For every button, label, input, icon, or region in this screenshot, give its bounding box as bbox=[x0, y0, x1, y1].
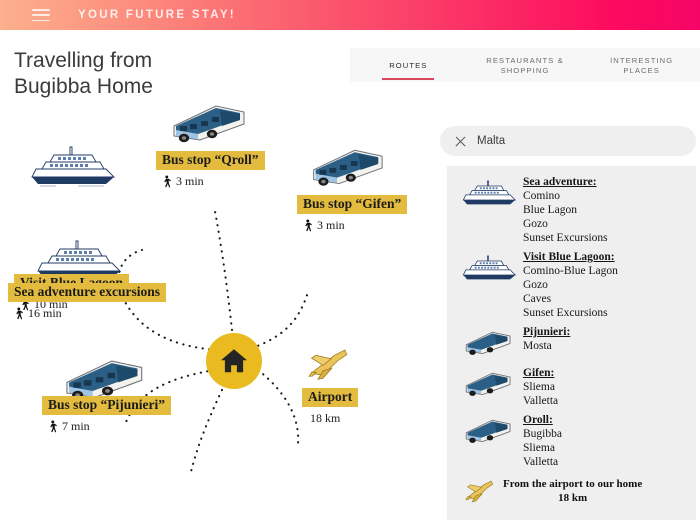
route-group[interactable]: Pijunieri: Mosta bbox=[447, 324, 696, 361]
route-stop: Mosta bbox=[523, 339, 570, 353]
route-stop: Gozo bbox=[523, 278, 618, 292]
route-stop: Valletta bbox=[523, 394, 558, 408]
tab-bar: ROUTES RESTAURANTS & SHOPPING INTERESTIN… bbox=[350, 48, 700, 82]
airport-note-text: From the airport to our home 18 km bbox=[503, 477, 642, 505]
map-node-airport[interactable]: Airport 18 km bbox=[302, 388, 358, 426]
route-heading: Oroll: bbox=[523, 413, 562, 427]
routes-side-pane: ROUTES RESTAURANTS & SHOPPING INTERESTIN… bbox=[344, 30, 700, 500]
close-icon[interactable] bbox=[454, 135, 467, 148]
route-heading: Pijunieri: bbox=[523, 325, 570, 339]
walking-icon bbox=[14, 307, 23, 321]
tab-restaurants-shopping[interactable]: RESTAURANTS & SHOPPING bbox=[467, 54, 584, 76]
location-search-field[interactable]: Malta bbox=[440, 126, 696, 156]
node-duration: 3 min bbox=[297, 218, 407, 233]
route-details: Gifen: Sliema Valletta bbox=[523, 365, 558, 408]
hamburger-bar bbox=[32, 9, 50, 11]
map-node-bus-stop-gifen[interactable]: Bus stop “Gifen” 3 min bbox=[297, 195, 407, 233]
app-header: YOUR FUTURE STAY! bbox=[0, 0, 700, 30]
route-group[interactable]: Visit Blue Lagoon: Comino-Blue Lagon Goz… bbox=[447, 249, 696, 320]
ferry-illustration bbox=[22, 142, 120, 195]
route-heading: Gifen: bbox=[523, 366, 558, 380]
node-distance: 18 km bbox=[302, 411, 358, 426]
node-distance-text: 18 km bbox=[310, 411, 340, 426]
home-hub-marker[interactable] bbox=[206, 333, 262, 389]
route-details: Oroll: Bugibba Sliema Valletta bbox=[523, 412, 562, 469]
route-stop: Sliema bbox=[523, 380, 558, 394]
node-label: Bus stop “Qroll” bbox=[156, 151, 265, 170]
route-stop: Caves bbox=[523, 292, 618, 306]
route-stop: Sunset Excursions bbox=[523, 231, 608, 245]
home-icon bbox=[219, 346, 249, 376]
walking-icon bbox=[303, 219, 312, 233]
node-label: Bus stop “Gifen” bbox=[297, 195, 407, 214]
route-details: Pijunieri: Mosta bbox=[523, 324, 570, 353]
node-duration: 3 min bbox=[156, 174, 265, 189]
airport-note-line2: 18 km bbox=[503, 491, 642, 505]
node-duration: 7 min bbox=[42, 419, 171, 434]
map-node-bus-stop-qroll[interactable]: Bus stop “Qroll” 3 min bbox=[156, 151, 265, 189]
airport-distance-note: From the airport to our home 18 km bbox=[447, 477, 696, 505]
route-stop: Comino bbox=[523, 189, 608, 203]
route-group[interactable]: Sea adventure: Comino Blue Lagon Gozo Su… bbox=[447, 174, 696, 245]
route-stop: Blue Lagon bbox=[523, 203, 608, 217]
map-node-bus-stop-pijunieri[interactable]: Bus stop “Pijunieri” 7 min bbox=[42, 396, 171, 434]
node-label: Bus stop “Pijunieri” bbox=[42, 396, 171, 415]
bus-illustration bbox=[300, 140, 386, 193]
route-stop: Comino-Blue Lagon bbox=[523, 264, 618, 278]
bus-icon bbox=[457, 324, 523, 361]
ferry-icon bbox=[457, 249, 523, 290]
route-details: Sea adventure: Comino Blue Lagon Gozo Su… bbox=[523, 174, 608, 245]
tab-interesting-places[interactable]: INTERESTING PLACES bbox=[583, 54, 700, 76]
route-group[interactable]: Gifen: Sliema Valletta bbox=[447, 365, 696, 408]
ferry-icon bbox=[457, 174, 523, 215]
node-duration: 16 min bbox=[8, 306, 166, 321]
route-group[interactable]: Oroll: Bugibba Sliema Valletta bbox=[447, 412, 696, 469]
walking-icon bbox=[48, 420, 57, 434]
bus-icon bbox=[457, 412, 523, 449]
route-details: Visit Blue Lagoon: Comino-Blue Lagon Goz… bbox=[523, 249, 618, 320]
bus-icon bbox=[457, 365, 523, 402]
route-stop: Gozo bbox=[523, 217, 608, 231]
tab-routes[interactable]: ROUTES bbox=[350, 59, 467, 71]
route-heading: Sea adventure: bbox=[523, 175, 608, 189]
route-stop: Valletta bbox=[523, 455, 562, 469]
route-stop: Sunset Excursions bbox=[523, 306, 618, 320]
hamburger-menu-icon[interactable] bbox=[32, 9, 50, 21]
node-duration-text: 3 min bbox=[176, 174, 204, 189]
route-stop: Sliema bbox=[523, 441, 562, 455]
airplane-illustration bbox=[305, 346, 353, 387]
walking-icon bbox=[162, 175, 171, 189]
route-stop: Bugibba bbox=[523, 427, 562, 441]
airplane-icon bbox=[463, 478, 497, 504]
hamburger-bar bbox=[32, 20, 50, 22]
hamburger-bar bbox=[32, 14, 50, 16]
route-heading: Visit Blue Lagoon: bbox=[523, 250, 618, 264]
bus-illustration bbox=[160, 96, 248, 149]
node-label: Airport bbox=[302, 388, 358, 407]
node-duration-text: 3 min bbox=[317, 218, 345, 233]
routes-list-panel[interactable]: Sea adventure: Comino Blue Lagon Gozo Su… bbox=[447, 166, 696, 520]
airport-note-line1: From the airport to our home bbox=[503, 477, 642, 491]
node-duration-text: 7 min bbox=[62, 419, 90, 434]
node-label: Sea adventure excursions bbox=[8, 283, 166, 302]
search-value: Malta bbox=[477, 135, 505, 147]
node-duration-text: 16 min bbox=[28, 306, 62, 321]
map-node-sea-adventure-excursions[interactable]: Sea adventure excursions 16 min bbox=[8, 283, 166, 321]
brand-title: YOUR FUTURE STAY! bbox=[78, 9, 236, 21]
